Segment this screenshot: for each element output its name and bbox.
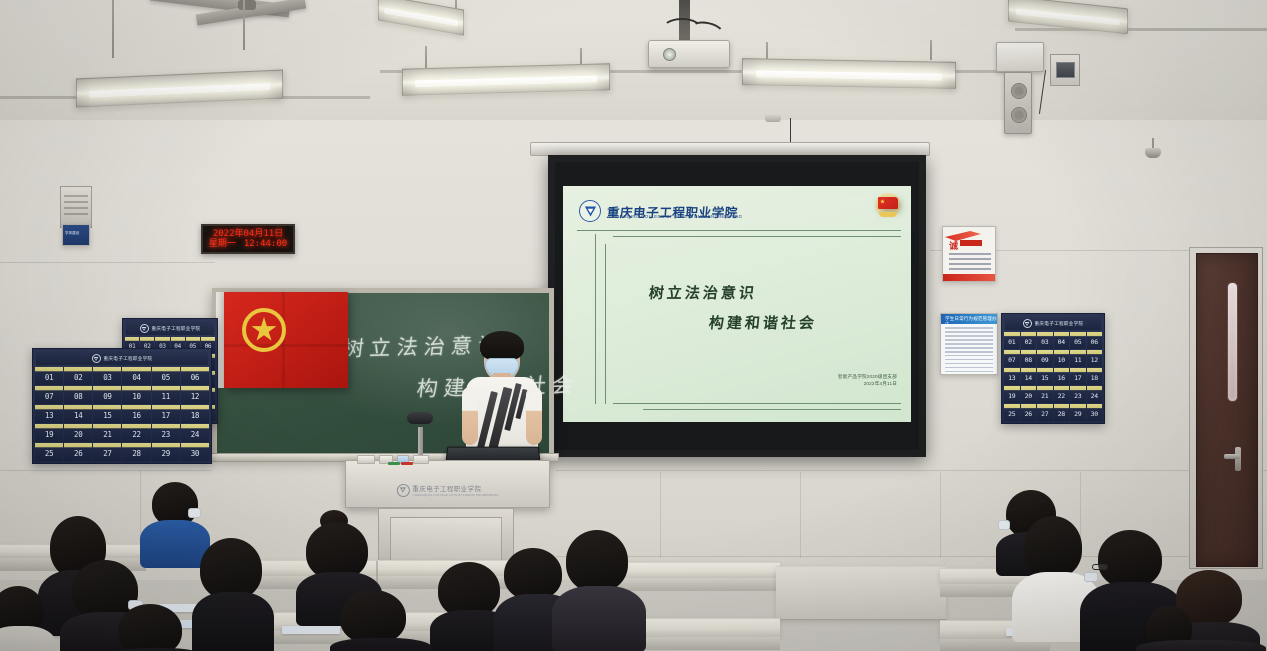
phone-pocket-number: 29 — [1074, 410, 1081, 421]
light-tube — [384, 7, 458, 26]
student-seated — [1146, 596, 1266, 651]
phone-pocket-number: 05 — [1074, 338, 1081, 349]
pocket-board-school-name: 重庆电子工程职业学院 — [152, 326, 201, 332]
presenter-arm-right — [526, 387, 542, 445]
phone-pocket-02[interactable]: 02 — [64, 367, 92, 385]
pocket-board-header: 重庆电子工程职业学院 — [1005, 317, 1101, 330]
phone-pocket-30[interactable]: 30 — [181, 443, 209, 461]
student-head — [340, 590, 406, 644]
student-face-mask — [188, 508, 201, 518]
phone-pocket-05[interactable]: 05 — [152, 367, 180, 385]
phone-pocket-07[interactable]: 07 — [35, 386, 63, 404]
student-head — [200, 538, 262, 600]
poster-footer-bar — [943, 274, 995, 281]
student-face-mask — [1084, 572, 1098, 582]
led-time-line: 星期一 12:44:00 — [209, 240, 287, 249]
phone-pocket-06[interactable]: 06 — [181, 367, 209, 385]
presenter-hair — [480, 331, 524, 361]
phone-pocket-07[interactable]: 07 — [1004, 350, 1020, 367]
phone-pocket-number: 25 — [45, 449, 53, 461]
phone-pocket-11[interactable]: 11 — [1070, 350, 1086, 367]
pocket-grid: 0102030405060708091011121314151617181920… — [1004, 332, 1102, 421]
ceiling-camera-icon — [1145, 148, 1161, 158]
student-face-mask — [998, 520, 1010, 530]
phone-pocket-05[interactable]: 05 — [1070, 332, 1086, 349]
phone-pocket-number: 04 — [132, 373, 140, 385]
phone-pocket-number: 23 — [162, 430, 170, 442]
phone-pocket-number: 25 — [1008, 410, 1015, 421]
phone-pocket-number: 14 — [74, 411, 82, 423]
light-support-rod — [243, 0, 245, 50]
phone-pocket-28[interactable]: 28 — [1054, 404, 1070, 421]
slide-footer-line2: 2022年4月11日 — [838, 381, 897, 388]
phone-pocket-22[interactable]: 22 — [122, 424, 150, 442]
phone-pocket-14[interactable]: 14 — [64, 405, 92, 423]
flag-fold — [224, 344, 348, 347]
phone-pocket-25[interactable]: 25 — [35, 443, 63, 461]
phone-pocket-number: 29 — [162, 449, 170, 461]
phone-pocket-number: 30 — [1091, 410, 1098, 421]
wall-seam — [0, 470, 212, 471]
phone-pocket-number: 23 — [1074, 392, 1081, 403]
phone-pocket-08[interactable]: 08 — [64, 386, 92, 404]
phone-pocket-18[interactable]: 18 — [181, 405, 209, 423]
phone-pocket-06[interactable]: 06 — [1087, 332, 1103, 349]
phone-pocket-number: 18 — [191, 411, 199, 423]
phone-pocket-01[interactable]: 01 — [35, 367, 63, 385]
phone-pocket-number: 24 — [191, 430, 199, 442]
led-clock-display: 2022年04月11日 星期一 12:44:00 — [201, 224, 295, 254]
phone-pocket-number: 15 — [103, 411, 111, 423]
slide-divider-rule — [643, 409, 901, 410]
emblem-base — [879, 212, 897, 217]
slide-divider-rule — [613, 236, 901, 237]
phone-pocket-number: 10 — [132, 392, 140, 404]
phone-pocket-24[interactable]: 24 — [1087, 386, 1103, 403]
phone-pocket-22[interactable]: 22 — [1054, 386, 1070, 403]
light-support-rod — [112, 0, 114, 58]
wall-poster-exam-integrity: 诚 — [942, 226, 996, 282]
desk-row — [776, 566, 946, 620]
slide-content: 重庆电子工程职业学院 CHONGQING COLLEGE OF ELECTRON… — [563, 186, 911, 422]
wall-seam — [940, 472, 941, 558]
wall-seam — [556, 470, 1267, 471]
speaker-cone — [1011, 83, 1027, 99]
student-torso — [192, 592, 274, 651]
phone-pocket-number: 20 — [1025, 392, 1032, 403]
light-fixture — [402, 63, 610, 95]
light-fixture — [742, 58, 956, 89]
wall-poster-student-rules: 学生日常行为规范管理办法 — [940, 313, 998, 375]
ceiling-seam — [1015, 28, 1267, 31]
phone-pocket-number: 02 — [1025, 338, 1032, 349]
phone-pocket-27[interactable]: 27 — [93, 443, 121, 461]
school-seal-icon — [92, 354, 101, 363]
phone-pocket-number: 17 — [162, 411, 170, 423]
led-time: 12:44:00 — [244, 240, 287, 249]
microphone-head — [407, 412, 433, 424]
student-seated — [552, 530, 644, 650]
student-glasses-icon — [1092, 564, 1108, 570]
phone-pocket-number: 09 — [1041, 356, 1048, 367]
phone-pocket-10[interactable]: 10 — [122, 386, 150, 404]
school-seal-icon — [140, 324, 149, 333]
pocket-grid: 0102030405060708091011121314151617181920… — [35, 367, 209, 461]
speaker-cone — [1011, 107, 1027, 123]
phone-pocket-15[interactable]: 15 — [93, 405, 121, 423]
phone-pocket-number: 24 — [1091, 392, 1098, 403]
phone-pocket-09[interactable]: 09 — [93, 386, 121, 404]
youth-league-flag — [224, 292, 348, 388]
phone-pocket-21[interactable]: 21 — [1037, 386, 1053, 403]
phone-pocket-number: 06 — [1091, 338, 1098, 349]
presenter-arm-left — [462, 387, 478, 445]
phone-pocket-04[interactable]: 04 — [1054, 332, 1070, 349]
phone-pocket-29[interactable]: 29 — [152, 443, 180, 461]
whiteboard-marker[interactable] — [401, 462, 413, 465]
door-lock-plate — [1235, 447, 1241, 471]
phone-pocket-03[interactable]: 03 — [93, 367, 121, 385]
phone-pocket-18[interactable]: 18 — [1087, 368, 1103, 385]
projector-lens — [663, 48, 676, 61]
phone-pocket-15[interactable]: 15 — [1037, 368, 1053, 385]
electrical-box — [996, 42, 1044, 72]
slide-title-line1: 树立法治意识 — [648, 282, 758, 303]
student-torso — [330, 638, 432, 651]
phone-pocket-number: 03 — [1041, 338, 1048, 349]
phone-pocket-01[interactable]: 01 — [1004, 332, 1020, 349]
student-torso — [0, 626, 56, 651]
ac-vent — [64, 201, 88, 203]
classroom-scene: 学风建设 诚 学生日常行为规范管理办法 — [0, 0, 1267, 651]
phone-pocket-19[interactable]: 19 — [1004, 386, 1020, 403]
phone-pocket-number: 21 — [103, 430, 111, 442]
slide-divider-rule — [577, 230, 901, 231]
door-window — [1227, 282, 1238, 402]
phone-pocket-16[interactable]: 16 — [1054, 368, 1070, 385]
phone-pocket-29[interactable]: 29 — [1070, 404, 1086, 421]
phone-pocket-number: 11 — [1074, 356, 1081, 367]
light-tube — [415, 76, 596, 87]
phone-pocket-number: 01 — [1008, 338, 1015, 349]
phone-pocket-number: 28 — [132, 449, 140, 461]
phone-pocket-number: 03 — [103, 373, 111, 385]
phone-pocket-number: 08 — [1025, 356, 1032, 367]
phone-pocket-number: 13 — [1008, 374, 1015, 385]
slide-footer: 智能产品学院2020级团支部 2022年4月11日 — [838, 374, 897, 388]
phone-pocket-number: 16 — [1058, 374, 1065, 385]
phone-pocket-number: 05 — [162, 373, 170, 385]
light-support-rod — [930, 40, 932, 60]
poster-body-lines — [949, 253, 991, 273]
poster-body-lines — [945, 327, 993, 375]
phone-pocket-08[interactable]: 08 — [1021, 350, 1037, 367]
phone-pocket-21[interactable]: 21 — [93, 424, 121, 442]
phone-pocket-number: 27 — [1041, 410, 1048, 421]
phone-pocket-11[interactable]: 11 — [152, 386, 180, 404]
wall-seam — [0, 262, 215, 263]
phone-pocket-20[interactable]: 20 — [1021, 386, 1037, 403]
phone-pocket-17[interactable]: 17 — [152, 405, 180, 423]
lectern-logo-text: 重庆电子工程职业学院 CHONGQING COLLEGE OF ELECTRON… — [412, 483, 498, 497]
door-handle[interactable] — [1224, 454, 1240, 459]
phone-pocket-number: 30 — [191, 449, 199, 461]
phone-pocket-19[interactable]: 19 — [35, 424, 63, 442]
air-conditioner-unit — [60, 186, 92, 228]
pocket-board-school-name: 重庆电子工程职业学院 — [104, 356, 153, 362]
wall-poster-small-left: 学风建设 — [62, 224, 90, 246]
phone-pocket-30[interactable]: 30 — [1087, 404, 1103, 421]
poster-tag-banner — [960, 240, 982, 246]
phone-pocket-number: 14 — [1025, 374, 1032, 385]
phone-pocket-09[interactable]: 09 — [1037, 350, 1053, 367]
phone-pocket-13[interactable]: 13 — [1004, 368, 1020, 385]
phone-pocket-03[interactable]: 03 — [1037, 332, 1053, 349]
phone-pocket-number: 10 — [1058, 356, 1065, 367]
phone-pocket-12[interactable]: 12 — [181, 386, 209, 404]
phone-pocket-number: 18 — [1091, 374, 1098, 385]
wall-speaker — [1004, 72, 1032, 134]
phone-pocket-04[interactable]: 04 — [122, 367, 150, 385]
classroom-door[interactable] — [1196, 253, 1258, 567]
phone-pocket-number: 07 — [45, 392, 53, 404]
phone-pocket-number: 12 — [1091, 356, 1098, 367]
phone-pocket-number: 12 — [191, 392, 199, 404]
control-panel-screen — [1056, 62, 1075, 78]
projector — [648, 40, 730, 68]
phone-pocket-12[interactable]: 12 — [1087, 350, 1103, 367]
student-seated — [330, 590, 430, 651]
student-seated — [0, 586, 60, 651]
phone-pocket-16[interactable]: 16 — [122, 405, 150, 423]
phone-pocket-number: 13 — [45, 411, 53, 423]
student-seated — [112, 604, 200, 651]
light-tube — [89, 83, 269, 98]
phone-pocket-10[interactable]: 10 — [1054, 350, 1070, 367]
phone-pocket-13[interactable]: 13 — [35, 405, 63, 423]
phone-pocket-23[interactable]: 23 — [1070, 386, 1086, 403]
phone-pocket-number: 01 — [45, 373, 53, 385]
school-seal-icon — [579, 200, 601, 222]
led-weekday: 星期一 — [209, 240, 236, 249]
phone-pocket-number: 15 — [1041, 374, 1048, 385]
pocket-board-header: 重庆电子工程职业学院 — [36, 352, 208, 365]
phone-pocket-number: 17 — [1074, 374, 1081, 385]
phone-pocket-02[interactable]: 02 — [1021, 332, 1037, 349]
wall-seam — [800, 472, 801, 558]
slide-title: 树立法治意识 构建和谐社会 — [563, 282, 911, 333]
phone-pocket-number: 09 — [103, 392, 111, 404]
phone-pocket-number: 08 — [74, 392, 82, 404]
phone-pocket-24[interactable]: 24 — [181, 424, 209, 442]
whiteboard-marker[interactable] — [388, 462, 400, 465]
student-seated — [192, 538, 272, 651]
projection-screen-housing — [530, 142, 930, 156]
phone-pocket-number: 06 — [191, 373, 199, 385]
student-presenter — [460, 325, 544, 460]
light-tube — [756, 70, 943, 80]
light-support-rod — [425, 46, 427, 68]
phone-pocket-number: 26 — [1025, 410, 1032, 421]
phone-pocket-number: 16 — [132, 411, 140, 423]
phone-pocket-number: 22 — [132, 430, 140, 442]
wall-seam — [660, 472, 661, 558]
school-seal-icon — [1023, 319, 1032, 328]
projection-screen: 重庆电子工程职业学院 CHONGQING COLLEGE OF ELECTRON… — [548, 155, 926, 457]
emblem-flag — [878, 197, 898, 209]
ac-vent — [64, 195, 88, 197]
ac-vent — [64, 207, 88, 209]
poster-small-text: 学风建设 — [65, 231, 87, 235]
slide-divider-rule — [613, 403, 901, 404]
student-head — [1098, 530, 1162, 588]
phone-pocket-25[interactable]: 25 — [1004, 404, 1020, 421]
phone-pocket-28[interactable]: 28 — [122, 443, 150, 461]
wall-control-panel[interactable] — [1050, 54, 1080, 86]
phone-pocket-number: 28 — [1058, 410, 1065, 421]
phone-pocket-26[interactable]: 26 — [1021, 404, 1037, 421]
pocket-board-school-name: 重庆电子工程职业学院 — [1035, 321, 1084, 327]
light-tube — [1016, 8, 1120, 25]
phone-pocket-number: 02 — [74, 373, 82, 385]
phone-pocket-board-left-front: 重庆电子工程职业学院 01020304050607080910111213141… — [32, 348, 212, 464]
phone-pocket-number: 19 — [1008, 392, 1015, 403]
phone-pocket-board-right: 重庆电子工程职业学院 01020304050607080910111213141… — [1001, 313, 1105, 424]
lectern-school-logo: 重庆电子工程职业学院 CHONGQING COLLEGE OF ELECTRON… — [396, 483, 498, 497]
student-torso — [1136, 640, 1266, 651]
poster-headline: 诚 — [949, 239, 958, 252]
phone-pocket-number: 27 — [103, 449, 111, 461]
led-date-line: 2022年04月11日 — [213, 230, 283, 239]
student-head-long-hair — [1024, 516, 1082, 578]
phone-pocket-26[interactable]: 26 — [64, 443, 92, 461]
slide-title-line2: 构建和谐社会 — [708, 312, 818, 333]
phone-pocket-number: 07 — [1008, 356, 1015, 367]
phone-pocket-14[interactable]: 14 — [1021, 368, 1037, 385]
slide-header: 重庆电子工程职业学院 — [579, 196, 897, 226]
smoke-detector-icon — [765, 113, 781, 122]
phone-pocket-20[interactable]: 20 — [64, 424, 92, 442]
phone-pocket-27[interactable]: 27 — [1037, 404, 1053, 421]
phone-pocket-number: 26 — [74, 449, 82, 461]
school-seal-icon — [396, 484, 409, 497]
pocket-board-header: 重庆电子工程职业学院 — [126, 322, 214, 335]
lectern-top: 重庆电子工程职业学院 CHONGQING COLLEGE OF ELECTRON… — [345, 460, 550, 508]
student-head — [118, 604, 182, 651]
slide-school-name-en: CHONGQING COLLEGE OF ELECTRONIC ENGINEER… — [609, 214, 742, 219]
youth-league-emblem-icon — [875, 193, 901, 217]
phone-pocket-23[interactable]: 23 — [152, 424, 180, 442]
phone-pocket-17[interactable]: 17 — [1070, 368, 1086, 385]
ac-vent — [64, 213, 88, 215]
ceiling-fan-hub — [238, 0, 256, 10]
phone-pocket-number: 19 — [45, 430, 53, 442]
phone-pocket-number: 11 — [162, 392, 170, 404]
phone-pocket-number: 22 — [1058, 392, 1065, 403]
student-head-long-hair — [566, 530, 628, 592]
phone-pocket-number: 20 — [74, 430, 82, 442]
phone-pocket-number: 04 — [1058, 338, 1065, 349]
phone-pocket-number: 21 — [1041, 392, 1048, 403]
student-torso — [552, 586, 646, 651]
lectern-cabinet-panel[interactable] — [390, 517, 502, 563]
